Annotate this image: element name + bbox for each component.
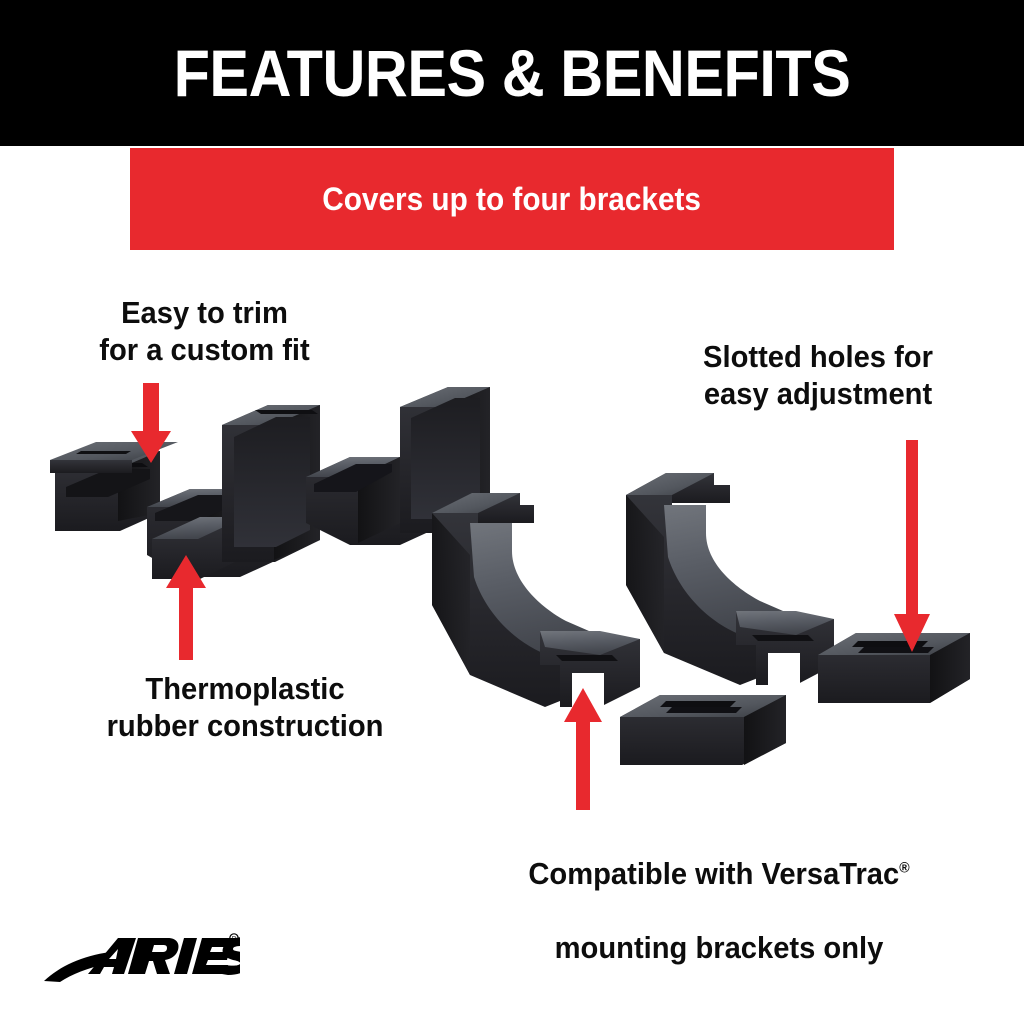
callout-easy-to-trim: Easy to trim for a custom fit: [42, 294, 366, 368]
callout-versatrac-line1: Compatible with VersaTrac: [528, 856, 899, 891]
callout-versatrac-line2: mounting brackets only: [555, 930, 884, 965]
callout-slotted-holes: Slotted holes for easy adjustment: [651, 338, 986, 412]
page-title: FEATURES & BENEFITS: [174, 40, 851, 106]
header-bar: FEATURES & BENEFITS: [0, 0, 1024, 146]
up-arrow-versatrac: [562, 688, 604, 810]
subtitle-banner: Covers up to four brackets: [130, 148, 894, 250]
bracket-cover-piece-6: [432, 493, 640, 707]
callout-versatrac: Compatible with VersaTrac® mounting brac…: [462, 818, 975, 966]
svg-text:R: R: [232, 937, 237, 943]
aries-logo: R: [44, 928, 240, 990]
registered-trademark-icon: ®: [899, 860, 909, 877]
subtitle-text: Covers up to four brackets: [323, 182, 702, 216]
callout-thermoplastic: Thermoplastic rubber construction: [47, 670, 444, 744]
down-arrow-trim: [126, 383, 176, 463]
bracket-cover-piece-8: [620, 695, 786, 765]
bracket-cover-piece-7: [626, 473, 834, 685]
bracket-cover-piece-3: [222, 405, 320, 562]
up-arrow-thermo: [162, 555, 210, 660]
down-arrow-slotted: [892, 440, 932, 652]
